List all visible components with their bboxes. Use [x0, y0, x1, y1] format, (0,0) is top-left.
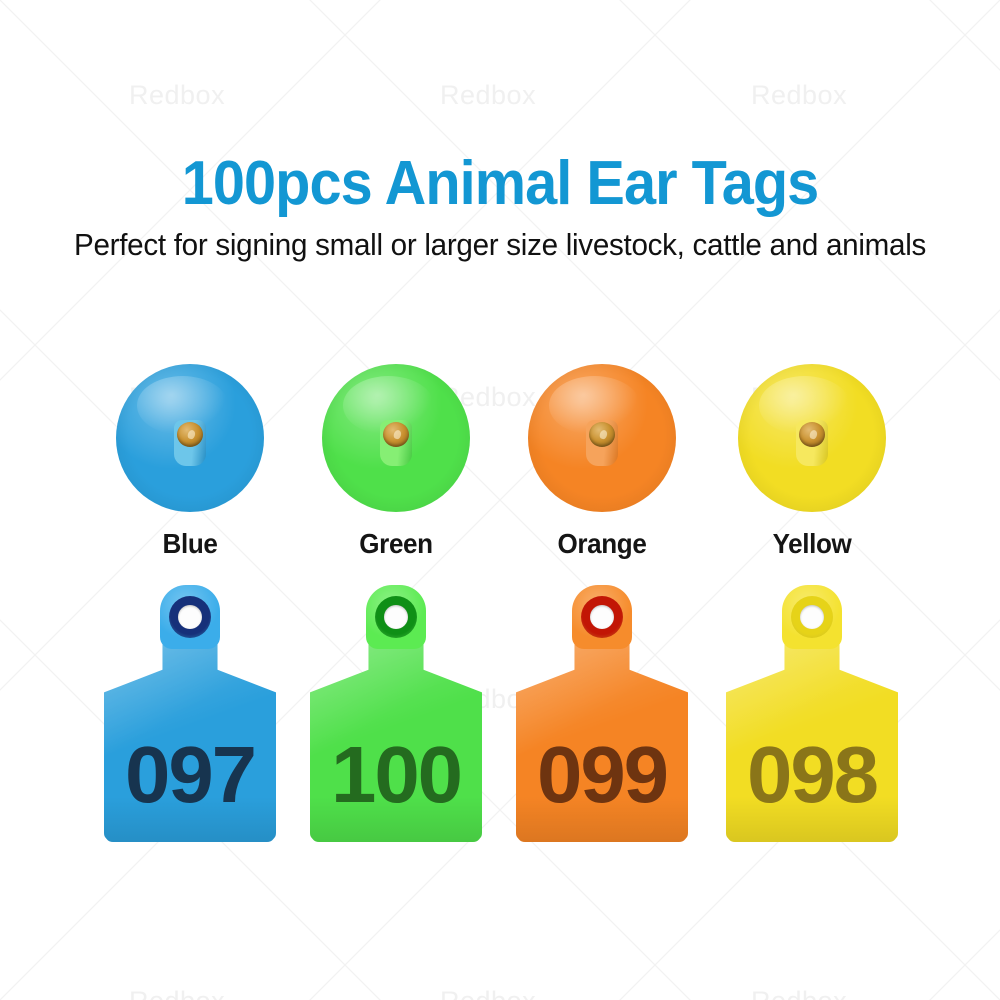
color-label-yellow: Yellow — [733, 528, 891, 560]
product-infographic: RedboxRedboxRedboxRedboxRedboxRedboxRedb… — [0, 0, 1000, 1000]
color-label-green: Green — [317, 528, 475, 560]
button-tag-orange[interactable] — [517, 358, 687, 518]
color-label-orange: Orange — [523, 528, 681, 560]
watermark-text: Redbox — [440, 986, 536, 1000]
ear-tag-number: 100 — [294, 735, 498, 815]
button-tag-disc — [322, 364, 470, 512]
ear-tag-blue[interactable]: 097 — [90, 585, 290, 850]
brass-pin-icon — [589, 422, 615, 447]
watermark-text: Redbox — [440, 80, 536, 111]
page-subtitle: Perfect for signing small or larger size… — [23, 227, 978, 263]
color-label-blue: Blue — [111, 528, 269, 560]
ear-tag-hole — [590, 605, 614, 629]
watermark-text: Redbox — [129, 80, 225, 111]
ear-tag-number: 098 — [710, 735, 914, 815]
button-tag-disc — [738, 364, 886, 512]
watermark-text: Redbox — [129, 986, 225, 1000]
brass-pin-icon — [177, 422, 203, 447]
button-tag-green[interactable] — [311, 358, 481, 518]
brass-pin-icon — [383, 422, 409, 447]
ear-tag-green[interactable]: 100 — [296, 585, 496, 850]
ear-tag-number: 097 — [88, 735, 292, 815]
ear-tag-yellow[interactable]: 098 — [712, 585, 912, 850]
ear-tag-hole — [800, 605, 824, 629]
button-tag-blue[interactable] — [105, 358, 275, 518]
ear-tag-orange[interactable]: 099 — [502, 585, 702, 850]
page-title: 100pcs Animal Ear Tags — [35, 148, 965, 219]
button-tag-yellow[interactable] — [727, 358, 897, 518]
brass-pin-icon — [799, 422, 825, 447]
ear-tag-number: 099 — [500, 735, 704, 815]
numbered-tag-row: 097100099098 — [0, 585, 1000, 855]
button-tag-row — [0, 358, 1000, 518]
watermark-text: Redbox — [751, 80, 847, 111]
ear-tag-hole — [384, 605, 408, 629]
color-label-row: BlueGreenOrangeYellow — [0, 528, 1000, 568]
button-tag-disc — [116, 364, 264, 512]
button-tag-disc — [528, 364, 676, 512]
ear-tag-hole — [178, 605, 202, 629]
watermark-text: Redbox — [751, 986, 847, 1000]
